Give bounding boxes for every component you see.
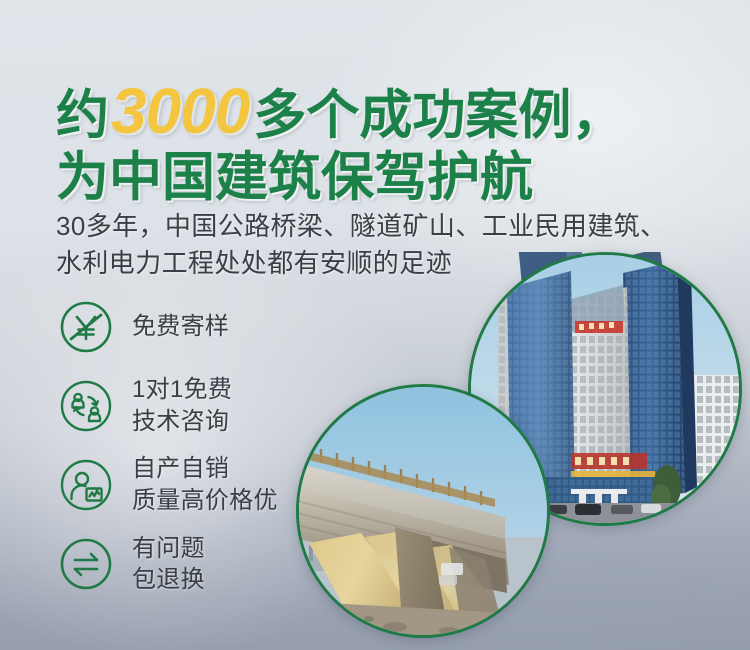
no-fee-yuan-icon <box>58 299 114 355</box>
subtitle-line-1: 30多年，中国公路桥梁、隧道矿山、工业民用建筑、 <box>56 208 667 245</box>
headline-line-1: 约3000多个成功案例， <box>56 78 624 146</box>
headline-line-2: 为中国建筑保驾护航 <box>56 150 624 206</box>
exchange-return-icon <box>58 536 114 592</box>
subtitle: 30多年，中国公路桥梁、隧道矿山、工业民用建筑、 水利电力工程处处都有安顺的足迹 <box>56 208 667 282</box>
one-on-one-consult-icon <box>58 378 114 434</box>
headline-number: 3000 <box>109 75 253 147</box>
feature-list: 免费寄样 1对1免费 技术咨询 <box>58 296 278 612</box>
feature-label-return-exchange: 有问题 包退换 <box>132 533 205 596</box>
feature-item-consult: 1对1免费 技术咨询 <box>58 374 278 437</box>
headline: 约3000多个成功案例， 为中国建筑保驾护航 <box>56 78 624 206</box>
promotional-banner: 约3000多个成功案例， 为中国建筑保驾护航 30多年，中国公路桥梁、隧道矿山、… <box>0 0 750 650</box>
subtitle-line-2: 水利电力工程处处都有安顺的足迹 <box>56 245 667 282</box>
feature-item-self-produce: 自产自销 质量高价格优 <box>58 453 278 516</box>
self-produce-sell-icon <box>58 457 114 513</box>
feature-item-free-sample: 免费寄样 <box>58 296 278 358</box>
feature-label-self-produce: 自产自销 质量高价格优 <box>132 453 278 516</box>
feature-label-free-sample: 免费寄样 <box>132 311 229 343</box>
feature-label-consult: 1对1免费 技术咨询 <box>132 374 232 437</box>
bridge-photo <box>296 384 550 638</box>
headline-suffix: 多个成功案例， <box>253 86 624 145</box>
feature-item-return-exchange: 有问题 包退换 <box>58 533 278 596</box>
headline-prefix: 约 <box>56 86 109 145</box>
